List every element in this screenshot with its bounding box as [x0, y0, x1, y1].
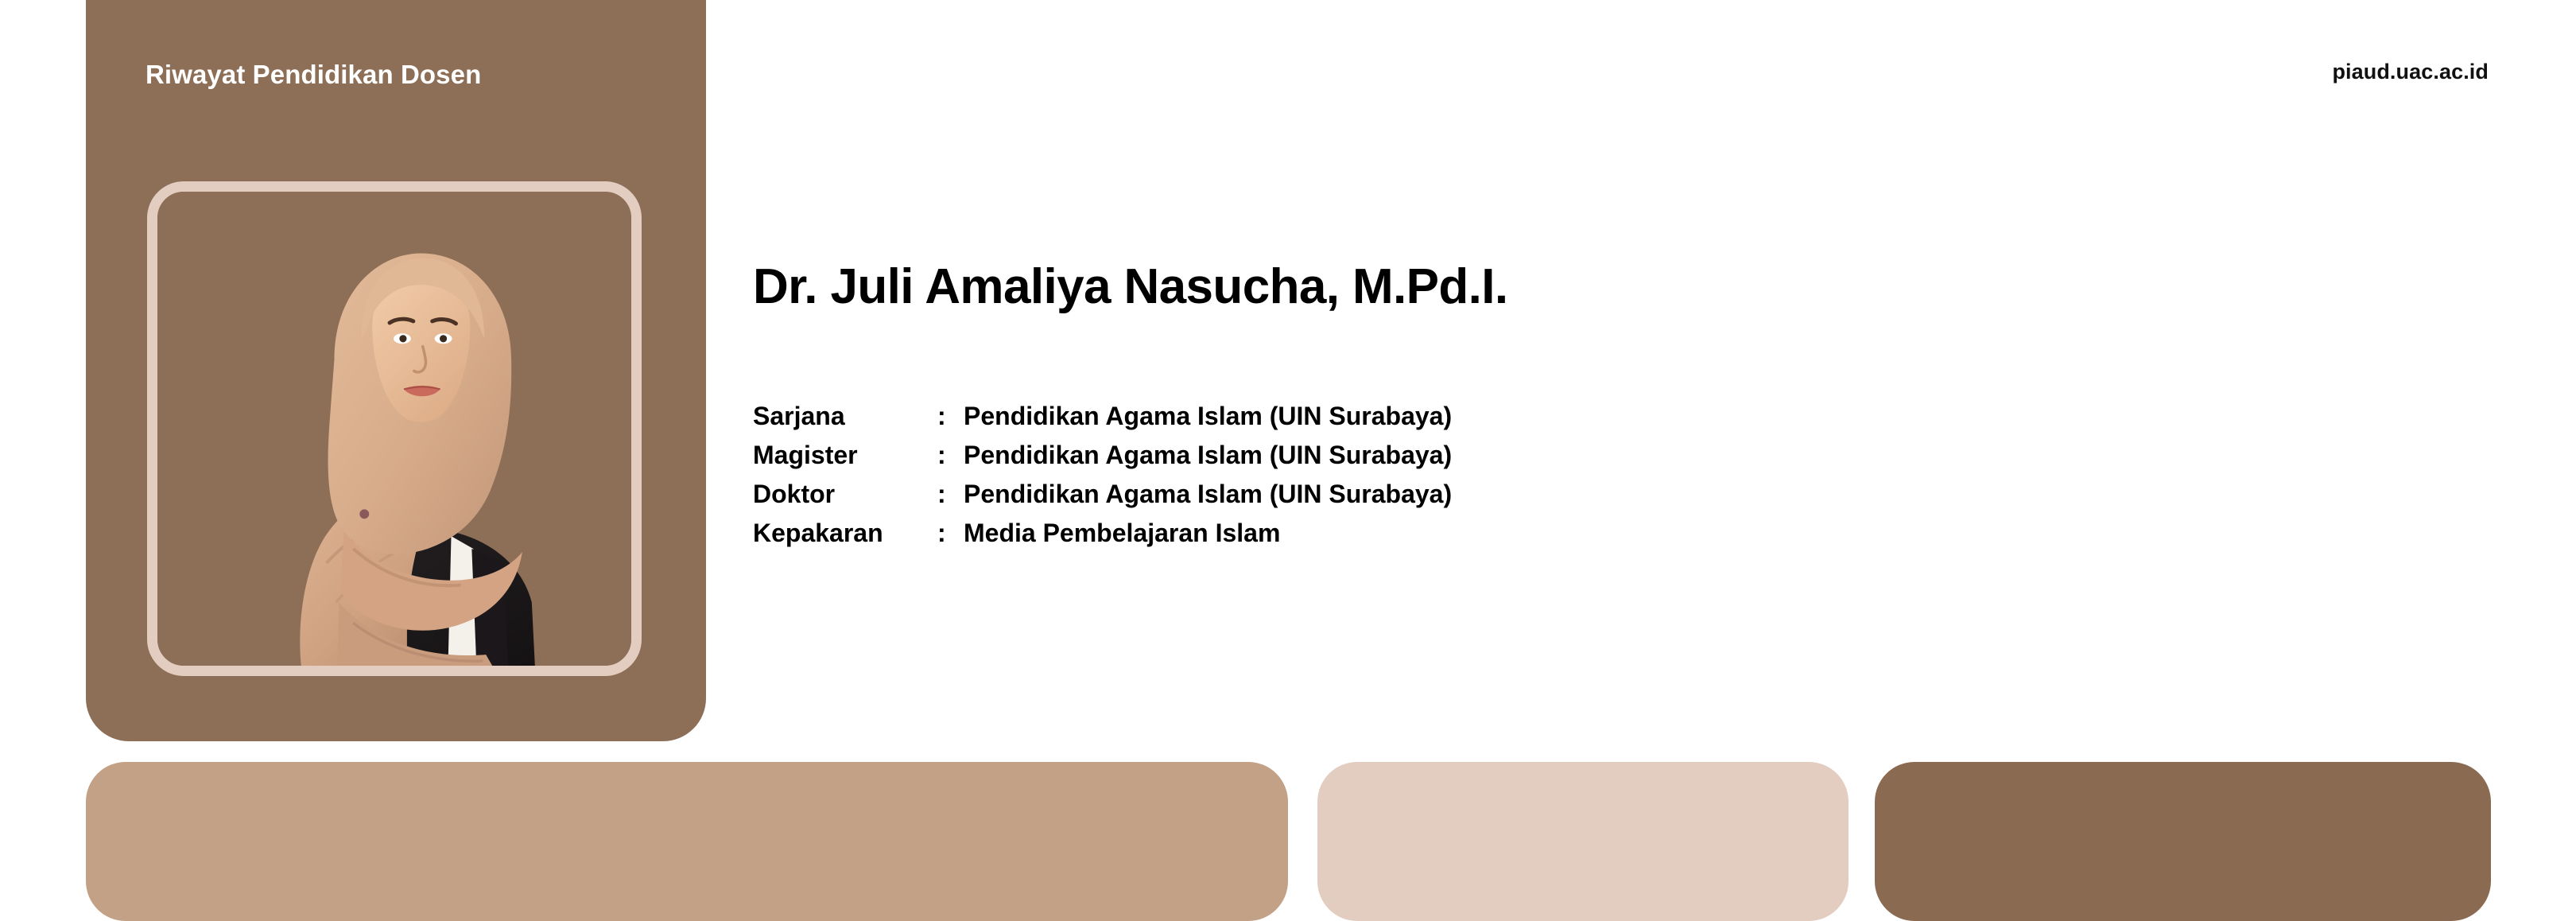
- panel-title: Riwayat Pendidikan Dosen: [145, 60, 481, 90]
- education-label: Sarjana: [753, 402, 937, 441]
- table-row: Sarjana : Pendidikan Agama Islam (UIN Su…: [753, 402, 1452, 441]
- portrait-frame: [147, 181, 642, 676]
- page-title: Dr. Juli Amaliya Nasucha, M.Pd.I.: [753, 262, 1508, 312]
- profile-panel: Riwayat Pendidikan Dosen: [86, 0, 706, 741]
- education-separator: :: [937, 441, 964, 480]
- education-separator: :: [937, 402, 964, 441]
- table-row: Magister : Pendidikan Agama Islam (UIN S…: [753, 441, 1452, 480]
- education-value: Media Pembelajaran Islam: [964, 519, 1452, 558]
- education-separator: :: [937, 480, 964, 519]
- education-value: Pendidikan Agama Islam (UIN Surabaya): [964, 402, 1452, 441]
- education-separator: :: [937, 519, 964, 558]
- education-label: Magister: [753, 441, 937, 480]
- table-row: Doktor : Pendidikan Agama Islam (UIN Sur…: [753, 480, 1452, 519]
- site-url: piaud.uac.ac.id: [2332, 60, 2489, 84]
- bottom-card-1: [86, 762, 1288, 921]
- education-label: Kepakaran: [753, 519, 937, 558]
- education-value: Pendidikan Agama Islam (UIN Surabaya): [964, 441, 1452, 480]
- slide-canvas: Riwayat Pendidikan Dosen: [0, 0, 2576, 859]
- education-value: Pendidikan Agama Islam (UIN Surabaya): [964, 480, 1452, 519]
- portrait-image: [157, 192, 631, 666]
- education-label: Doktor: [753, 480, 937, 519]
- education-history-table: Sarjana : Pendidikan Agama Islam (UIN Su…: [753, 402, 1452, 558]
- bottom-card-3: [1875, 762, 2491, 921]
- table-row: Kepakaran : Media Pembelajaran Islam: [753, 519, 1452, 558]
- bottom-card-2: [1317, 762, 1849, 921]
- portrait-illustration: [157, 192, 631, 666]
